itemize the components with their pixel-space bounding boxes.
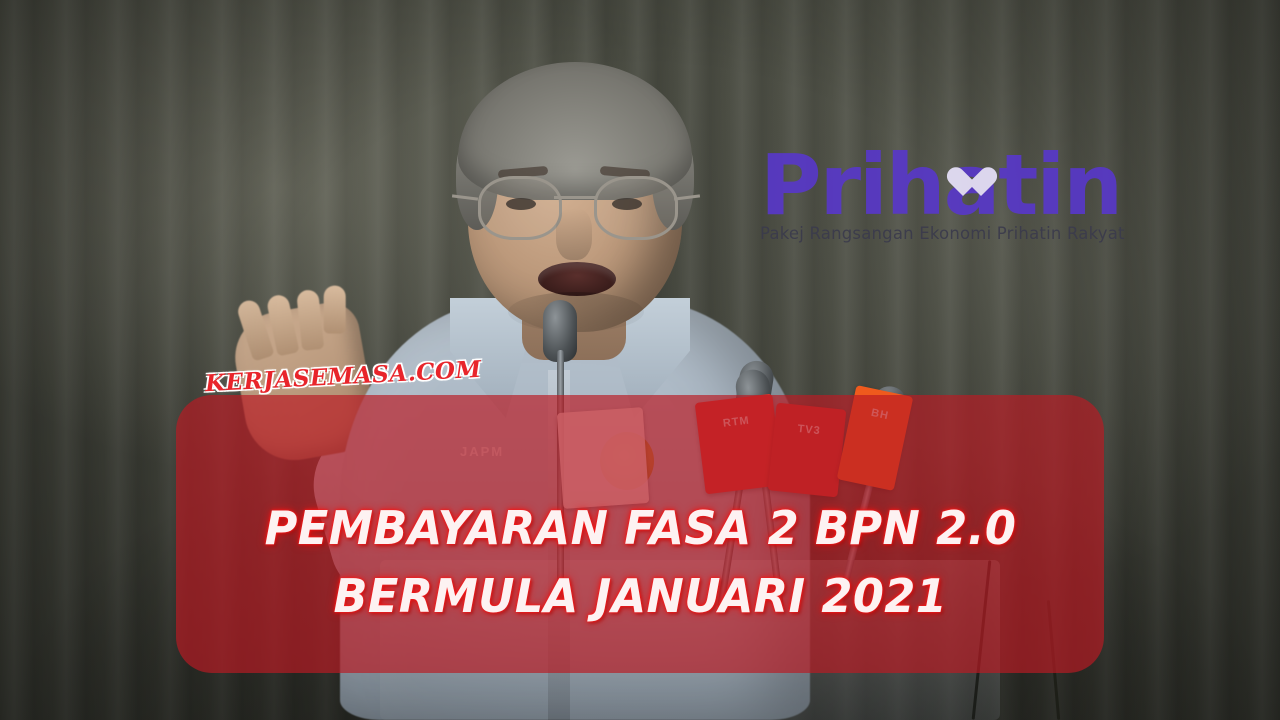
- headline-line-2: BERMULA JANUARI 2021: [333, 570, 947, 622]
- prihatin-logo: Prihatin Pakej Rangsangan Ekonomi Prihat…: [760, 142, 1140, 260]
- headline-banner: PEMBAYARAN FASA 2 BPN 2.0 BERMULA JANUAR…: [176, 395, 1104, 673]
- heart-icon: [946, 168, 980, 200]
- headline-line-1: PEMBAYARAN FASA 2 BPN 2.0: [264, 502, 1016, 554]
- news-graphic-canvas: JAPM: [0, 0, 1280, 720]
